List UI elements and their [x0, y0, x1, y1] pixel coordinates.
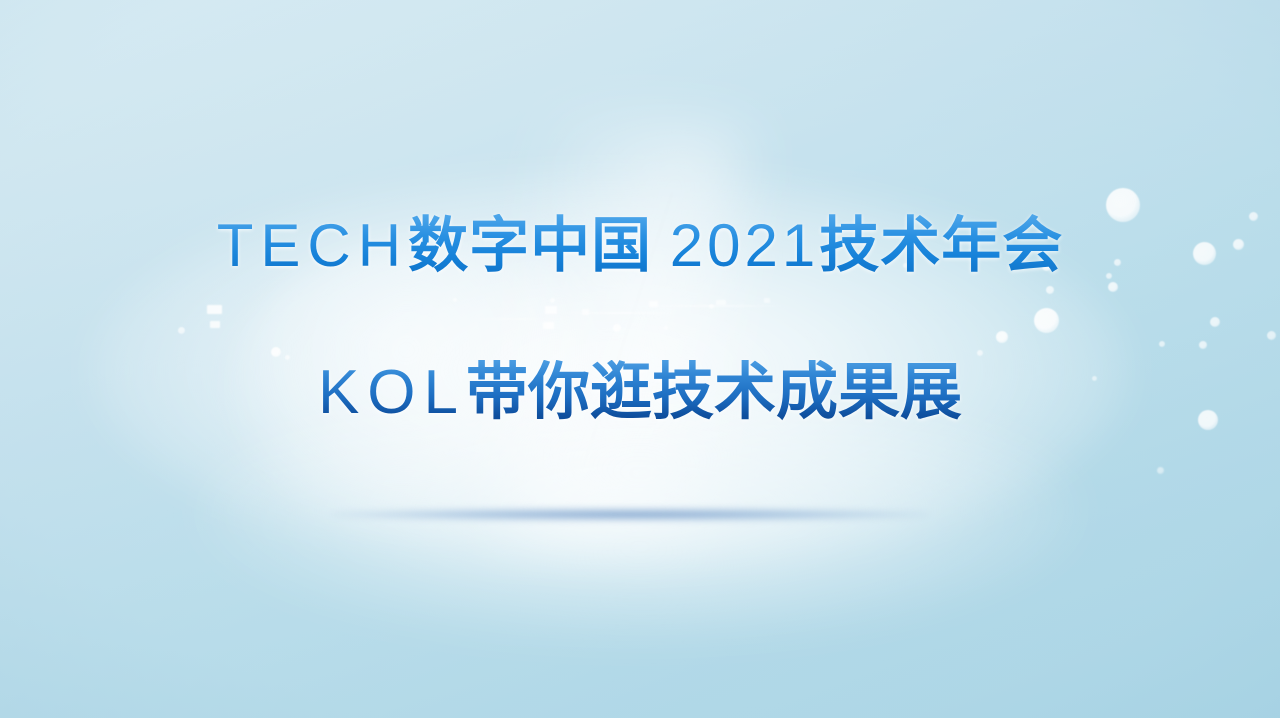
bokeh-particle	[1034, 308, 1059, 333]
bokeh-particle	[1210, 317, 1220, 327]
spark-particle	[764, 298, 770, 303]
bokeh-particle	[1106, 273, 1112, 279]
spark-particle	[649, 301, 658, 307]
spark-particle	[210, 321, 220, 328]
light-shaft	[499, 110, 752, 550]
bokeh-particle	[1106, 188, 1140, 222]
light-filament	[470, 318, 560, 320]
bokeh-particle	[977, 350, 983, 356]
bokeh-particle	[664, 326, 668, 330]
bokeh-particle	[1198, 410, 1218, 430]
event-title: TECH数字中国 2021技术年会	[217, 214, 1064, 278]
bokeh-particle	[1046, 286, 1054, 294]
event-subtitle: KOL带你逛技术成果展	[318, 360, 962, 426]
bokeh-particle	[178, 327, 185, 334]
bokeh-particle	[550, 298, 555, 303]
bokeh-particle	[546, 323, 551, 328]
bokeh-particle	[1042, 262, 1051, 271]
event-title-cjk-1: 数字中国	[408, 212, 652, 279]
event-title-year: 2021	[670, 212, 819, 279]
bokeh-particle	[453, 298, 457, 302]
title-card-slide: TECH数字中国 2021技术年会 KOL带你逛技术成果展	[0, 0, 1280, 718]
lower-glow	[200, 380, 1080, 640]
bokeh-particle	[1114, 259, 1121, 266]
spark-particle	[543, 322, 554, 329]
bokeh-particle	[1157, 467, 1164, 474]
center-glow	[90, 170, 1130, 570]
event-title-latin: TECH	[217, 212, 408, 279]
bokeh-particle	[1108, 282, 1118, 292]
bokeh-particle	[1233, 239, 1244, 250]
spark-particle	[716, 300, 726, 305]
edge-vignette	[0, 0, 1280, 718]
spark-particle	[207, 305, 222, 314]
event-subtitle-cjk: 带你逛技术成果展	[466, 358, 962, 427]
event-title-cjk-2: 技术年会	[819, 212, 1063, 279]
event-subtitle-latin: KOL	[318, 358, 466, 427]
globe-shimmer	[230, 236, 650, 536]
bokeh-particle	[271, 347, 281, 357]
bokeh-particle	[1249, 212, 1258, 221]
bokeh-particle	[709, 304, 714, 309]
bokeh-particle	[285, 355, 290, 360]
spark-particle	[582, 309, 589, 315]
light-filament	[560, 312, 680, 314]
bokeh-particle	[1193, 242, 1216, 265]
bokeh-particle	[996, 331, 1008, 343]
bokeh-particle	[903, 263, 908, 268]
bokeh-particle	[1159, 341, 1165, 347]
light-filament	[636, 305, 786, 307]
bokeh-particle	[613, 324, 621, 332]
bokeh-particle	[1267, 331, 1276, 340]
bokeh-particle	[1092, 376, 1097, 381]
headline-block: TECH数字中国 2021技术年会 KOL带你逛技术成果展	[0, 0, 1280, 718]
event-title-space	[652, 212, 670, 279]
bokeh-particle	[1199, 341, 1207, 349]
spark-particle	[545, 306, 557, 314]
horizontal-light-streak	[330, 508, 930, 521]
